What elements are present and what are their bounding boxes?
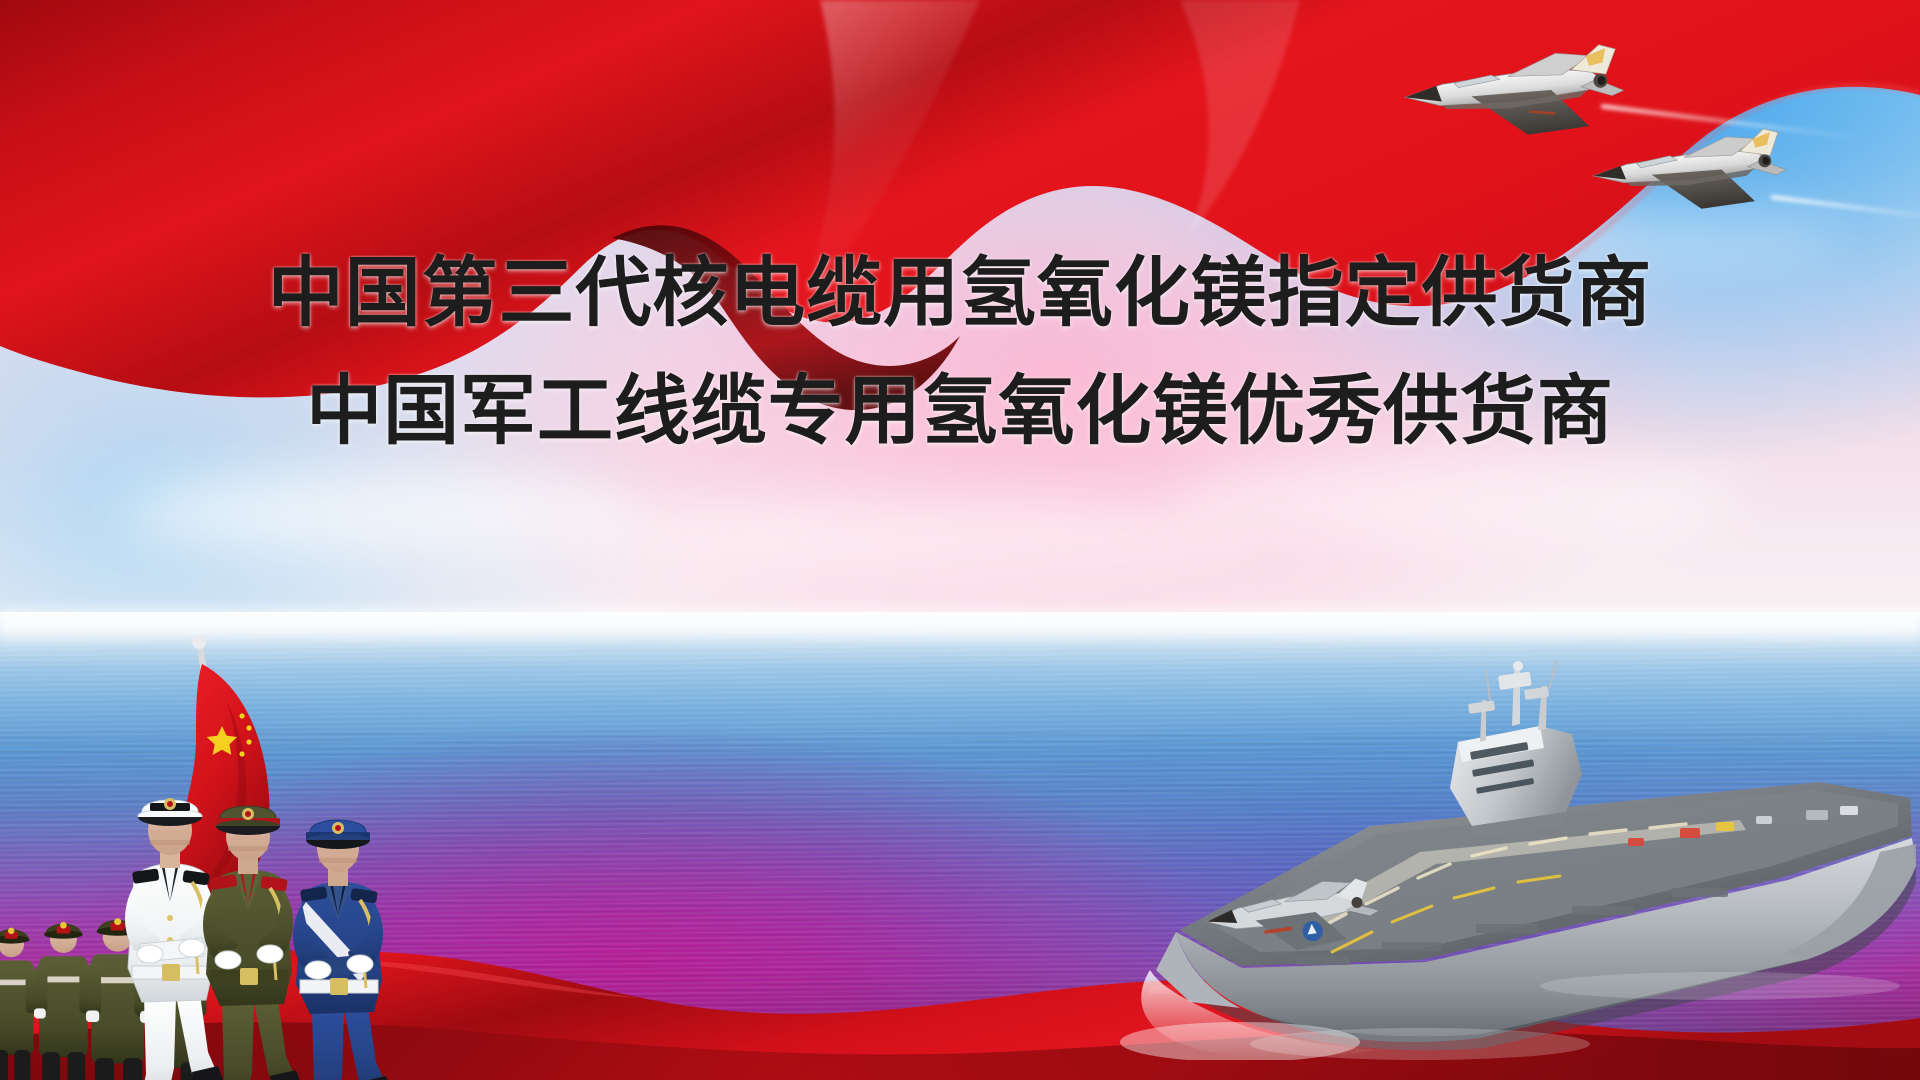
deck-vehicle xyxy=(1840,806,1858,815)
deck-vehicle xyxy=(1756,816,1772,824)
deck-vehicle xyxy=(1806,810,1828,820)
cloud-wisp xyxy=(560,500,1260,570)
deck-vehicle xyxy=(1716,822,1734,831)
carrier-island xyxy=(1450,660,1582,838)
deck-vehicle xyxy=(1628,838,1644,846)
aircraft-carrier-graphic xyxy=(1120,630,1920,1060)
air-force-officer xyxy=(293,820,394,1080)
cloud-wisp xyxy=(120,470,640,556)
honor-guard-graphic xyxy=(0,630,510,1080)
fighter-jet-wing-icon xyxy=(1583,116,1792,236)
title-line-2: 中国军工线缆专用氢氧化镁优秀供货商 xyxy=(0,364,1920,460)
banner-canvas: 中国第三代核电缆用氢氧化镁指定供货商 中国军工线缆专用氢氧化镁优秀供货商 xyxy=(0,0,1920,1080)
title-line-1: 中国第三代核电缆用氢氧化镁指定供货商 xyxy=(0,246,1920,342)
cloud-wisp xyxy=(1180,455,1740,547)
deck-vehicle xyxy=(1680,828,1700,838)
banner-title-block: 中国第三代核电缆用氢氧化镁指定供货商 中国军工线缆专用氢氧化镁优秀供货商 xyxy=(0,246,1920,460)
